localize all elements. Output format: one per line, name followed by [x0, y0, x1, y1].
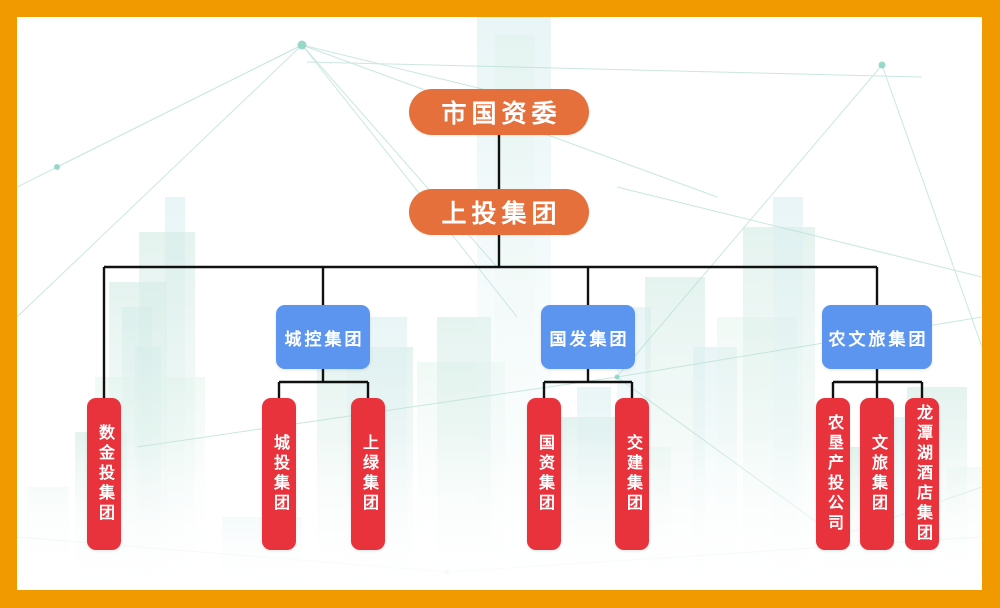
node-shanglv[interactable]: 上绿集团 [351, 398, 385, 550]
node-label: 上投集团 [436, 194, 561, 230]
node-guofa[interactable]: 国发集团 [541, 305, 635, 369]
node-longtanhu[interactable]: 龙潭湖酒店集团 [905, 398, 939, 550]
node-chengkong[interactable]: 城控集团 [276, 305, 370, 369]
node-label: 数金投集团 [96, 424, 112, 524]
node-jiaojian[interactable]: 交建集团 [615, 398, 649, 550]
node-label: 交建集团 [624, 434, 640, 514]
node-chengtou[interactable]: 城投集团 [262, 398, 296, 550]
node-label: 国资集团 [536, 434, 552, 514]
node-label: 城控集团 [282, 325, 365, 350]
node-nongwenlv[interactable]: 农文旅集团 [822, 305, 932, 369]
node-shiguozi[interactable]: 市国资委 [409, 89, 589, 135]
node-label: 农垦产投公司 [825, 414, 841, 534]
node-label: 龙潭湖酒店集团 [914, 404, 930, 544]
node-label: 上绿集团 [360, 434, 376, 514]
node-label: 市国资委 [436, 94, 561, 130]
node-guozi[interactable]: 国资集团 [527, 398, 561, 550]
poster-frame: 市国资委 上投集团 数金投集团 城控集团 国发集团 农文旅集团 城投集团 上绿集… [0, 0, 1000, 608]
node-shujintou[interactable]: 数金投集团 [87, 398, 121, 550]
node-shangtou[interactable]: 上投集团 [409, 189, 589, 235]
node-label: 城投集团 [271, 434, 287, 514]
node-wenlv[interactable]: 文旅集团 [860, 398, 894, 550]
org-chart-canvas: 市国资委 上投集团 数金投集团 城控集团 国发集团 农文旅集团 城投集团 上绿集… [17, 17, 982, 590]
node-label: 农文旅集团 [826, 325, 929, 350]
node-label: 国发集团 [547, 325, 630, 350]
node-nongken[interactable]: 农垦产投公司 [816, 398, 850, 550]
node-label: 文旅集团 [869, 434, 885, 514]
